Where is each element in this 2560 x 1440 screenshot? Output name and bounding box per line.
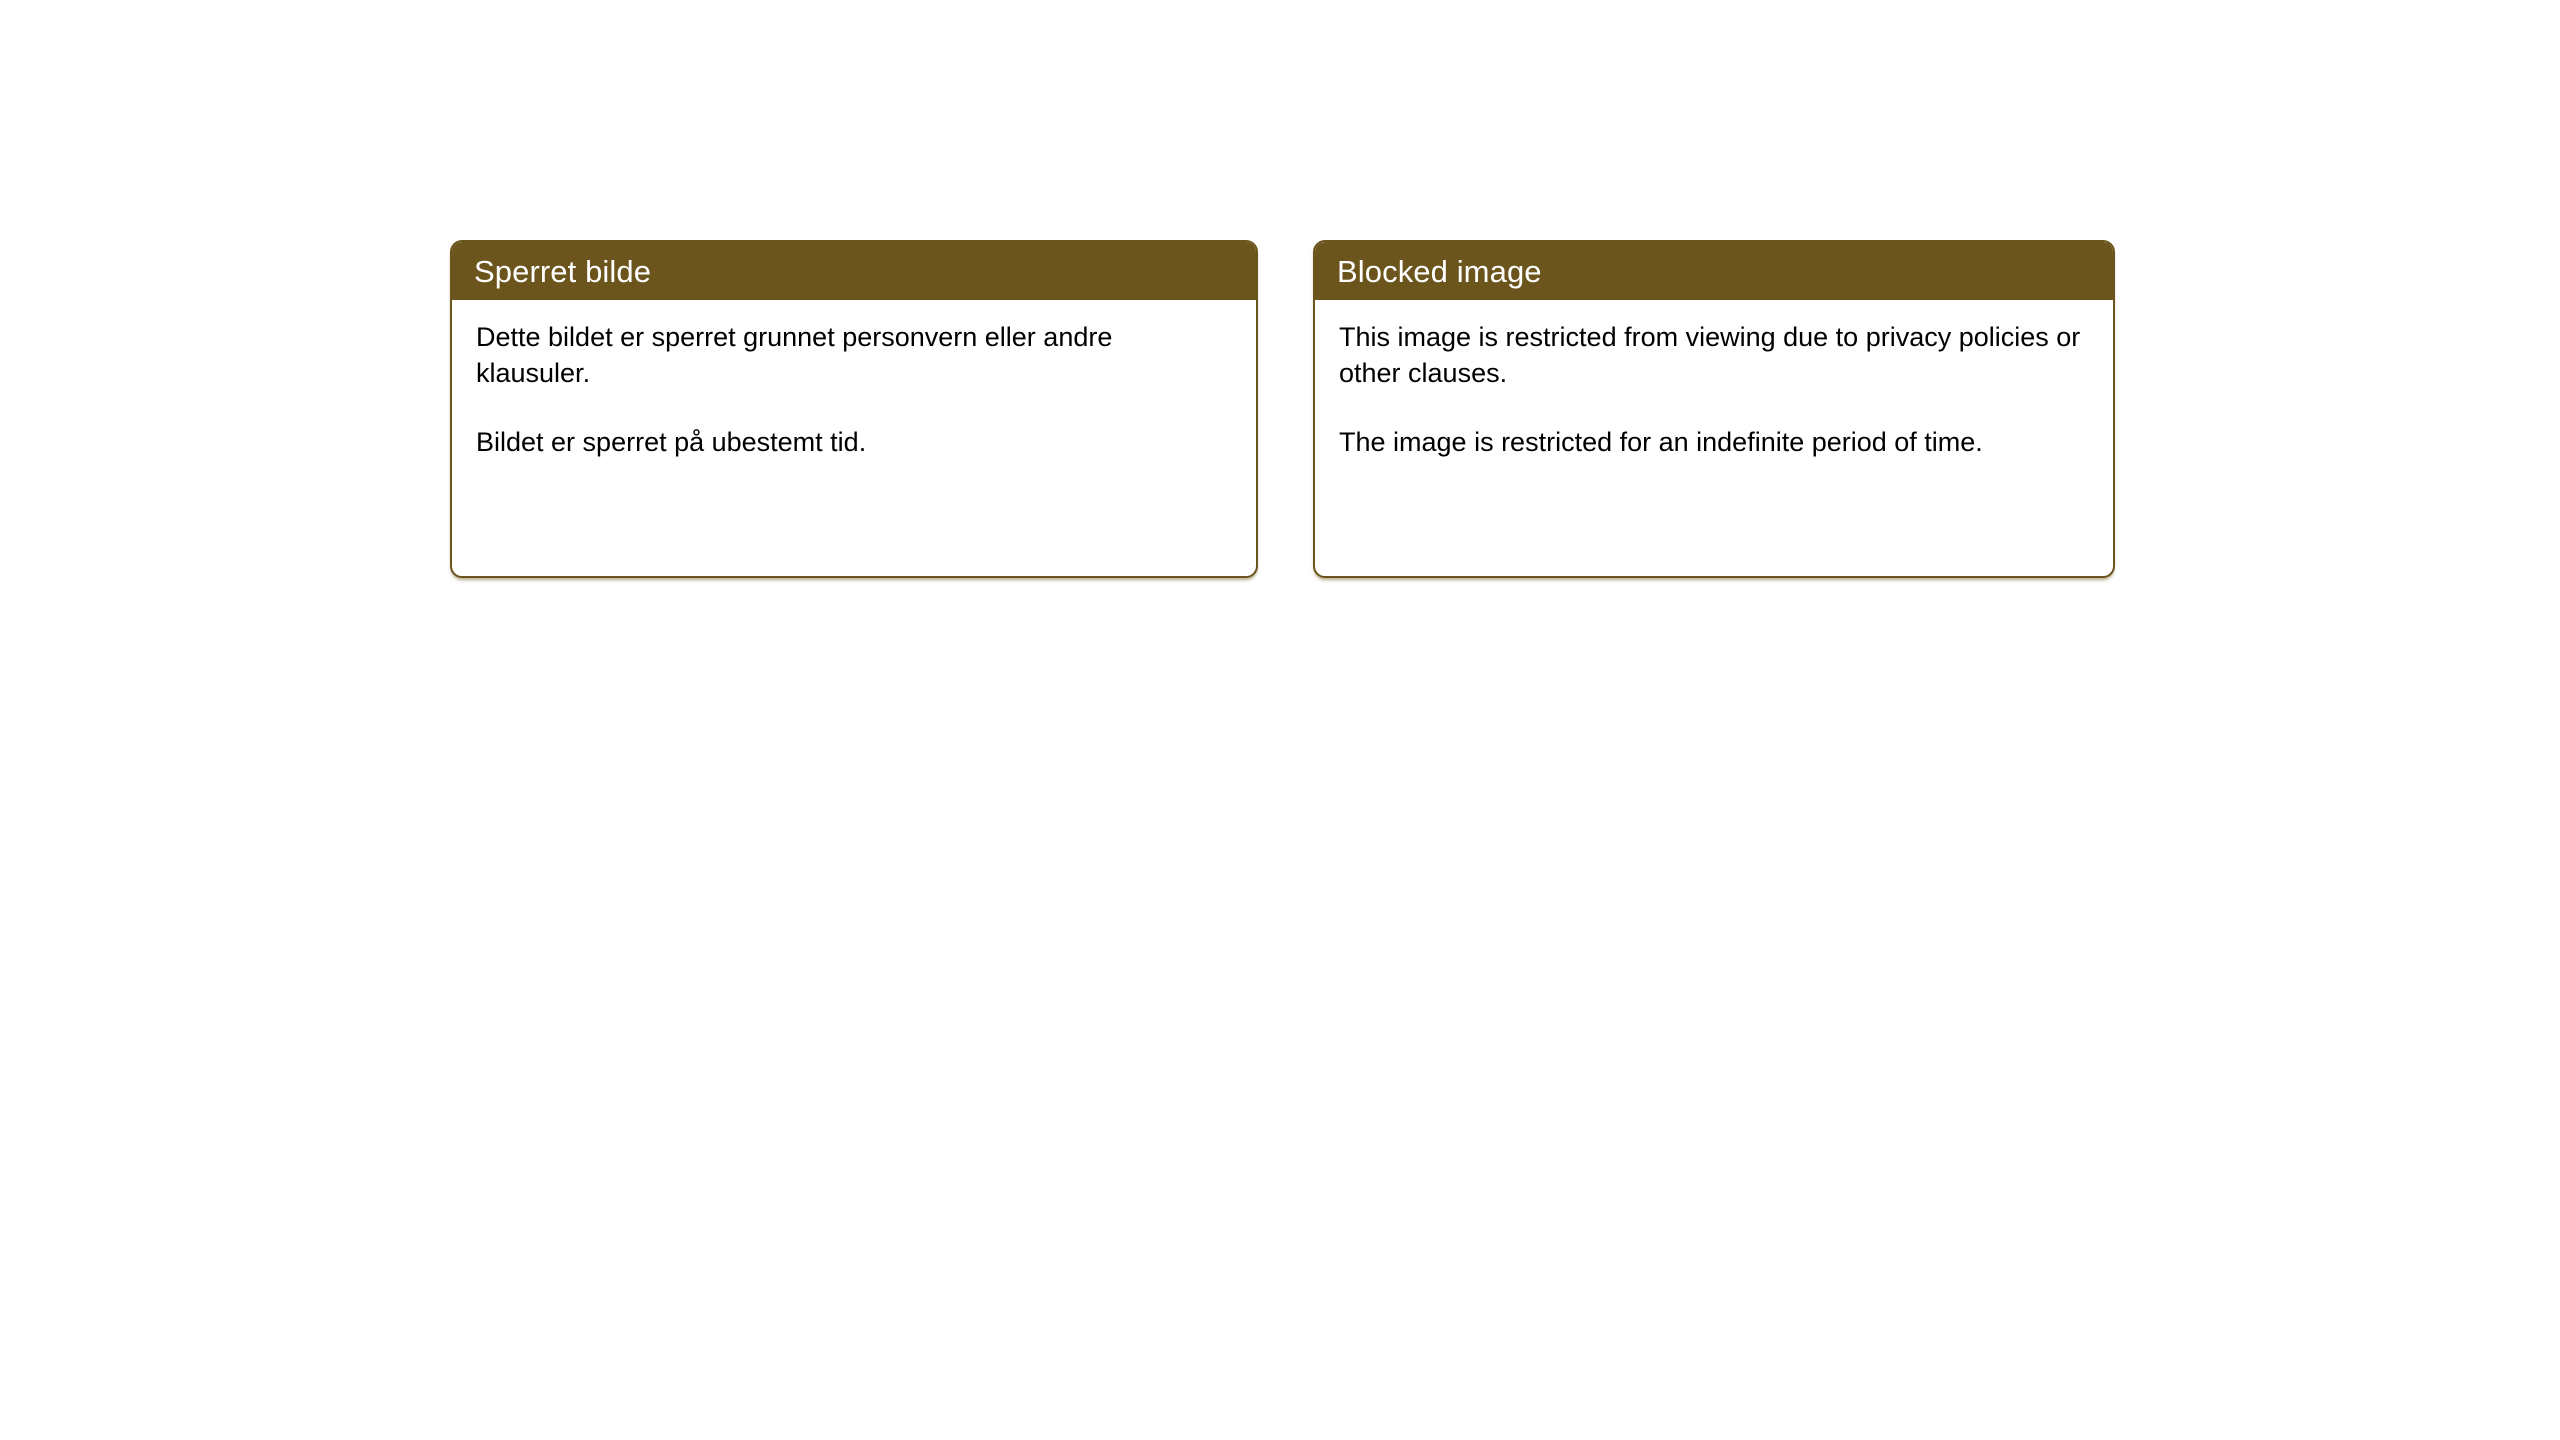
- card-paragraph-en-2: The image is restricted for an indefinit…: [1339, 425, 2089, 461]
- notice-card-row: Sperret bilde Dette bildet er sperret gr…: [450, 240, 2115, 578]
- card-title-en: Blocked image: [1337, 256, 1542, 287]
- card-paragraph-en-1: This image is restricted from viewing du…: [1339, 320, 2089, 391]
- blocked-image-card-en: Blocked image This image is restricted f…: [1313, 240, 2115, 578]
- card-paragraph-no-2: Bildet er sperret på ubestemt tid.: [476, 425, 1232, 461]
- card-header-en: Blocked image: [1315, 242, 2113, 300]
- card-title-no: Sperret bilde: [474, 256, 651, 287]
- card-paragraph-no-1: Dette bildet er sperret grunnet personve…: [476, 320, 1232, 391]
- card-body-en: This image is restricted from viewing du…: [1315, 300, 2113, 461]
- card-header-no: Sperret bilde: [452, 242, 1256, 300]
- blocked-image-card-no: Sperret bilde Dette bildet er sperret gr…: [450, 240, 1258, 578]
- card-body-no: Dette bildet er sperret grunnet personve…: [452, 300, 1256, 461]
- page-root: Sperret bilde Dette bildet er sperret gr…: [0, 0, 2560, 1440]
